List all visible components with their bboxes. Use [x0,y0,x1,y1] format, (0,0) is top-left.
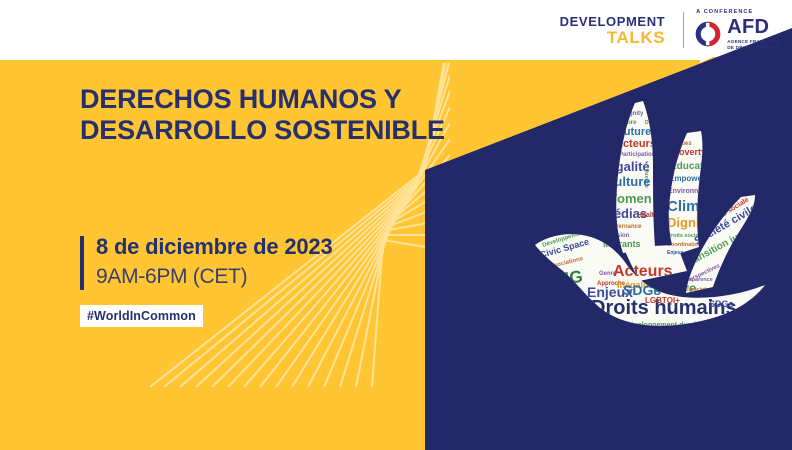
logo-divider [683,12,684,48]
date-accent-bar [80,236,84,290]
event-date: 8 de diciembre de 2023 [96,236,333,258]
svg-text:Solidarité: Solidarité [567,301,592,307]
svg-text:Education: Education [670,161,718,172]
svg-text:Acteurs: Acteurs [613,263,673,280]
svg-text:Gouvernance: Gouvernance [603,224,642,230]
svg-text:Climat: Climat [667,198,713,215]
svg-text:Women: Women [605,191,652,206]
svg-text:Transparence: Transparence [677,277,713,283]
event-time: 9AM-6PM (CET) [96,266,333,287]
svg-text:Participation: Participation [619,152,656,158]
svg-text:Enjeux: Enjeux [667,250,684,256]
svg-text:Dignity: Dignity [623,111,644,117]
svg-text:Poverty: Poverty [673,147,706,157]
svg-text:Human Rights: Human Rights [599,329,674,341]
svg-text:Culture: Culture [605,174,651,189]
event-datetime-block: 8 de diciembre de 2023 9AM-6PM (CET) [80,236,333,290]
afd-subtitle-line2: DE DÉVELOPPEMENT [727,45,780,51]
poster-canvas: DEVELOPMENT TALKS A CONFERENCE AFD AGENC… [0,0,792,450]
svg-text:Health: Health [637,212,658,219]
svg-text:Acteurs: Acteurs [615,138,656,150]
svg-text:LGBTQI+: LGBTQI+ [645,296,680,305]
svg-text:ONG: ONG [543,267,584,291]
svg-text:SDGs: SDGs [709,299,734,309]
svg-text:Perspectives: Perspectives [645,331,688,338]
svg-text:Développement durable: Développement durable [625,322,704,329]
svg-text:Droits sociaux: Droits sociaux [667,233,706,239]
page-title-line1: DERECHOS HUMANOS Y [80,84,460,115]
afd-acronym: AFD [727,17,780,37]
page-title-line2: DESARROLLO SOSTENIBLE [80,115,460,146]
development-talks-line1: DEVELOPMENT [560,15,666,28]
svg-text:Dignity: Dignity [667,215,712,230]
svg-text:Future: Future [617,126,651,138]
svg-text:Civil society: Civil society [677,287,710,293]
page-title: DERECHOS HUMANOS Y DESARROLLO SOSTENIBLE [80,84,460,147]
svg-text:Empowerment: Empowerment [669,174,724,183]
svg-text:Environnement: Environnement [668,188,720,195]
afd-ring-icon [694,20,722,48]
svg-text:Approche: Approche [611,341,653,351]
logo-group: DEVELOPMENT TALKS A CONFERENCE AFD AGENC… [560,6,780,54]
development-talks-line2: TALKS [560,29,666,46]
afd-logo[interactable]: A CONFERENCE AFD AGENCE FRANÇAISE DE DÉV… [694,9,780,50]
conference-label: A CONFERENCE [696,9,780,15]
dove-word-cloud: Dignity Genre Droits Future Acteurs Part… [527,95,775,355]
banner-gold-rule [0,60,700,63]
afd-subtitle: AGENCE FRANÇAISE DE DÉVELOPPEMENT [727,39,780,50]
development-talks-logo[interactable]: DEVELOPMENT TALKS [560,15,674,46]
svg-text:Migrants: Migrants [603,239,641,249]
hashtag-badge[interactable]: #WorldInCommon [80,305,203,327]
